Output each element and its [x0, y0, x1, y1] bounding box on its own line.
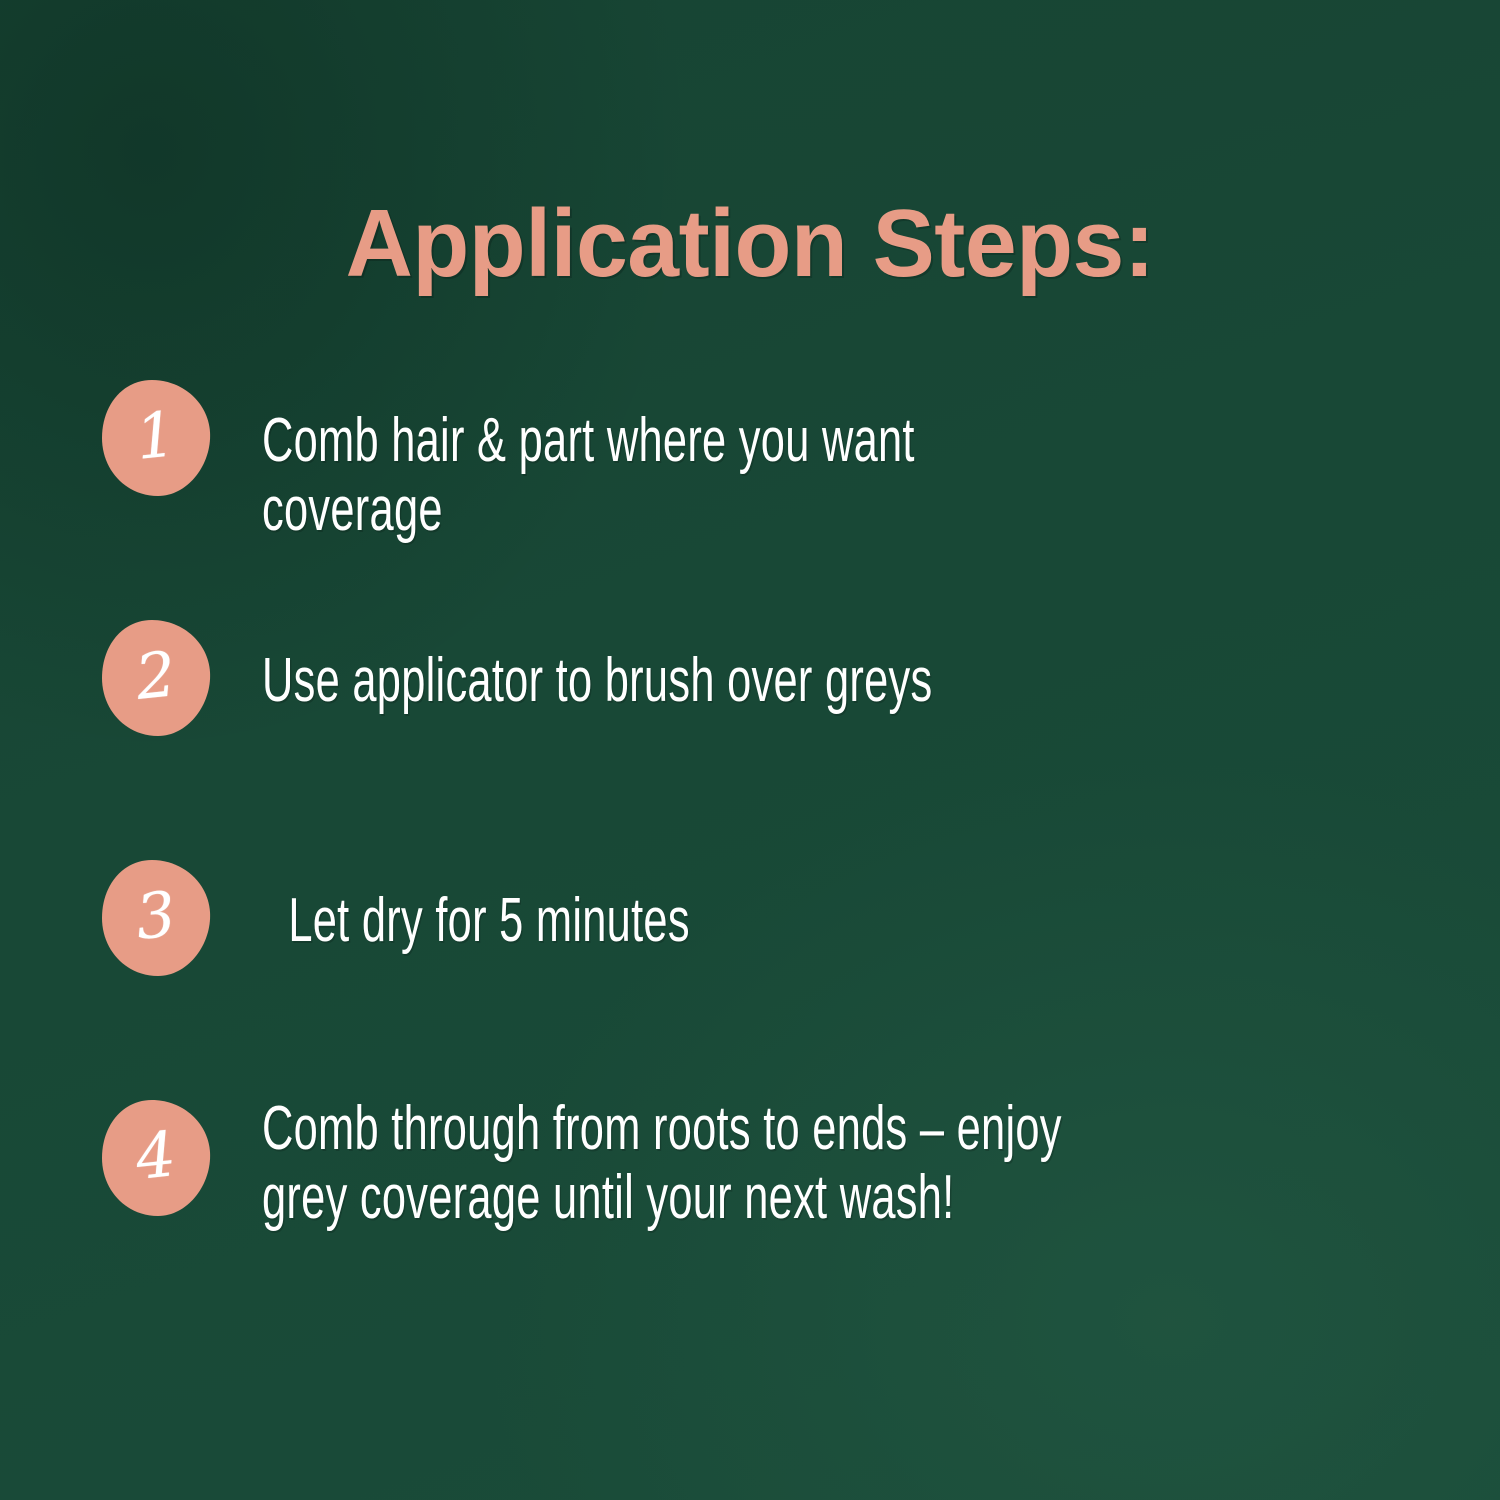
- steps-list: 1 Comb hair & part where you want covera…: [0, 364, 1500, 1324]
- step-number-badge: 1: [100, 378, 212, 498]
- step-text: Comb hair & part where you want coverage: [262, 406, 1088, 545]
- step-text: Comb through from roots to ends – enjoy …: [262, 1094, 1116, 1233]
- step-number-badge: 3: [100, 858, 212, 978]
- step-number-badge: 2: [100, 618, 212, 738]
- step-number-badge: 4: [100, 1098, 212, 1218]
- step-number: 3: [94, 850, 218, 981]
- list-item: 3 Let dry for 5 minutes: [0, 844, 1500, 1084]
- step-text: Use applicator to brush over greys: [262, 646, 1088, 715]
- step-text: Let dry for 5 minutes: [276, 886, 1102, 955]
- step-number: 4: [94, 1090, 218, 1221]
- step-number: 2: [94, 610, 218, 741]
- list-item: 2 Use applicator to brush over greys: [0, 604, 1500, 844]
- list-item: 4 Comb through from roots to ends – enjo…: [0, 1084, 1500, 1324]
- page-title: Application Steps:: [23, 196, 1478, 292]
- list-item: 1 Comb hair & part where you want covera…: [0, 364, 1500, 604]
- application-steps-poster: Application Steps: 1 Comb hair & part wh…: [0, 0, 1500, 1500]
- step-number: 1: [94, 370, 218, 501]
